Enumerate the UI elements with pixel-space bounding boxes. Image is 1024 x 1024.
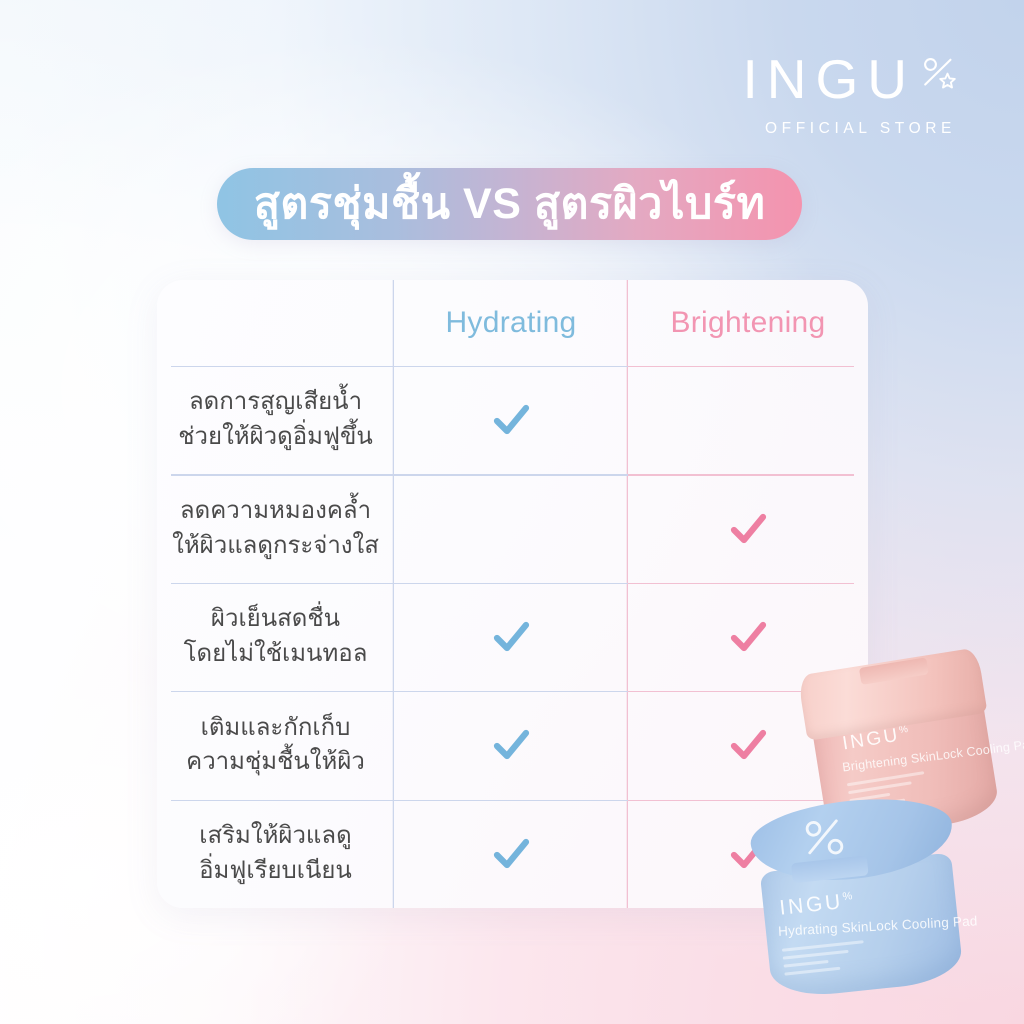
checkmark-icon [725, 614, 771, 660]
column-header-hydrating-label: Hydrating [445, 308, 576, 338]
column-header-hydrating: Hydrating [394, 280, 628, 366]
cell-brightening [628, 474, 868, 582]
product-jar-hydrating: INGU% Hydrating SkinLock Cooling Pad [747, 789, 978, 1006]
brand-subtitle: OFFICIAL STORE [734, 120, 957, 138]
feature-line-1: ผิวเย็นสดชื่น [211, 605, 340, 632]
feature-label: เสริมให้ผิวแลดู อิ่มฟูเรียบเนียน [191, 819, 360, 889]
table-row: เติมและกักเก็บ ความชุ่มชื้นให้ผิว [157, 691, 394, 799]
feature-label: เติมและกักเก็บ ความชุ่มชื้นให้ผิว [178, 711, 373, 781]
jar-ingredient-lines [782, 940, 867, 980]
cell-hydrating [394, 800, 628, 908]
jar-brand-label: INGU% [778, 889, 854, 921]
cell-hydrating [394, 474, 628, 582]
feature-line-1: ลดการสูญเสียน้ำ [189, 388, 362, 415]
promo-graphic: INGU OFFICIAL STORE สูตรชุ่มชื้น VS สูตร… [0, 0, 1024, 1024]
brand-logo: INGU OFFICIAL STORE [734, 52, 957, 138]
cell-brightening [628, 366, 868, 474]
feature-line-2: ช่วยให้ผิวดูอิ่มฟูขึ้น [178, 423, 373, 450]
feature-line-1: ลดความหมองคล้ำ [180, 497, 371, 524]
cell-hydrating [394, 366, 628, 474]
table-row: ลดการสูญเสียน้ำ ช่วยให้ผิวดูอิ่มฟูขึ้น [157, 366, 394, 474]
feature-label: ผิวเย็นสดชื่น โดยไม่ใช้เมนทอล [176, 602, 376, 672]
feature-label: ลดการสูญเสียน้ำ ช่วยให้ผิวดูอิ่มฟูขึ้น [170, 385, 381, 455]
checkmark-icon [488, 722, 534, 768]
checkmark-icon [725, 722, 771, 768]
feature-line-1: เติมและกักเก็บ [201, 714, 351, 741]
feature-line-2: โดยไม่ใช้เมนทอล [184, 640, 368, 667]
table-row: ผิวเย็นสดชื่น โดยไม่ใช้เมนทอล [157, 583, 394, 691]
feature-line-2: ความชุ่มชื้นให้ผิว [186, 748, 365, 775]
banner-title: สูตรชุ่มชื้น VS สูตรผิวไบร์ท [254, 183, 766, 226]
checkmark-icon [488, 397, 534, 443]
title-banner: สูตรชุ่มชื้น VS สูตรผิวไบร์ท [217, 168, 802, 240]
cell-hydrating [394, 691, 628, 799]
feature-line-2: อิ่มฟูเรียบเนียน [199, 857, 352, 884]
feature-line-1: เสริมให้ผิวแลดู [199, 822, 351, 849]
checkmark-icon [488, 831, 534, 877]
percent-flower-icon [803, 816, 847, 860]
checkmark-icon [725, 506, 771, 552]
percent-flower-icon [922, 56, 956, 90]
brand-logo-row: INGU [734, 52, 957, 107]
brand-name: INGU [734, 52, 917, 107]
table-row: ลดความหมองคล้ำ ให้ผิวแลดูกระจ่างใส [157, 474, 394, 582]
feature-label: ลดความหมองคล้ำ ให้ผิวแลดูกระจ่างใส [164, 494, 387, 564]
column-header-brightening: Brightening [628, 280, 868, 366]
table-row: เสริมให้ผิวแลดู อิ่มฟูเรียบเนียน [157, 800, 394, 908]
feature-line-2: ให้ผิวแลดูกระจ่างใส [172, 532, 379, 559]
column-header-brightening-label: Brightening [670, 308, 825, 338]
checkmark-icon [488, 614, 534, 660]
table-corner-cell [157, 280, 394, 366]
cell-hydrating [394, 583, 628, 691]
